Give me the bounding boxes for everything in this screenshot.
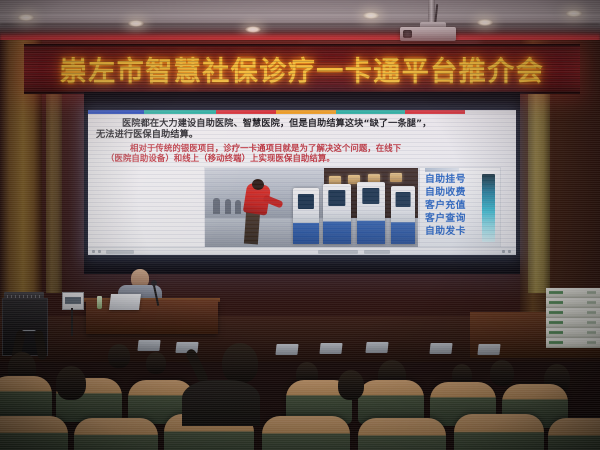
- taskbar-icon: [92, 250, 95, 253]
- audience-seat: [262, 416, 350, 450]
- ceiling-downlight: [363, 12, 379, 19]
- slide-top-bar-segment: [276, 110, 336, 114]
- photo-person-legs: [244, 211, 260, 245]
- audience-head: [490, 360, 514, 386]
- audience-seat: [0, 376, 52, 420]
- photo-kiosk-screen: [362, 188, 379, 204]
- photo-background-person: [213, 198, 220, 214]
- audience-head: [56, 366, 86, 400]
- slide-subtext-line2: （医院自助设备）和线上（移动终端）上实现医保自助结算。: [106, 153, 504, 163]
- wall-control-panel: [62, 292, 84, 310]
- audience-head: [108, 344, 130, 368]
- slide-top-bar-segment: [405, 110, 465, 114]
- audience-head: [222, 343, 258, 383]
- taskbar-item: [318, 250, 358, 254]
- photo-kiosk-screen: [328, 190, 345, 206]
- box-item: [546, 308, 600, 318]
- photo-background-person: [225, 199, 231, 214]
- podium-laptop: [109, 294, 141, 310]
- photo-background-person: [235, 200, 241, 214]
- slide-subtext-line1: 相对于传统的银医项目，诊疗一卡通项目就是为了解决这个问题，在线下: [106, 143, 504, 153]
- photo-kiosk: [391, 186, 415, 244]
- taskbar-icon: [98, 250, 101, 253]
- box-item: [546, 318, 600, 328]
- photo-kiosk: [323, 184, 351, 244]
- photo-kiosk-screen: [298, 194, 314, 209]
- led-banner: 崇左市智慧社保诊疗一卡通平台推介会: [24, 44, 580, 94]
- audience-head: [146, 352, 166, 374]
- slide-headline: 医院都在大力建设自助医院、智慧医院，但是自助结算这块“缺了一条腿”， 无法进行医…: [96, 119, 508, 140]
- wall-pillar-right: [528, 88, 550, 293]
- signboard-gradient-bar: [482, 174, 495, 242]
- audience-laptop: [429, 343, 452, 354]
- photo-kiosk: [357, 182, 385, 244]
- audience-laptop: [365, 342, 388, 353]
- ceiling-downlight: [477, 19, 493, 26]
- ceiling-beam: [0, 14, 600, 23]
- audience-raised-arm: [185, 348, 210, 385]
- audience-seat: [454, 414, 544, 450]
- signboard-item: 自助收费: [425, 186, 481, 199]
- signboard-item: 自助挂号: [425, 173, 481, 186]
- ceiling-downlight: [566, 10, 582, 17]
- slide-headline-line1: 医院都在大力建设自助医院、智慧医院，但是自助结算这块“缺了一条腿”，: [96, 119, 508, 130]
- taskbar-item: [364, 250, 390, 254]
- wall-panel-display: [65, 297, 81, 304]
- slide-subtext: 相对于传统的银医项目，诊疗一卡通项目就是为了解决这个问题，在线下 （医院自助设备…: [106, 143, 504, 163]
- slide-photo-kiosks: [204, 167, 419, 249]
- signboard-header-strip: [425, 167, 459, 172]
- audience-seat: [548, 418, 600, 450]
- box-item: [546, 288, 600, 298]
- audience-laptop: [319, 343, 342, 354]
- audience-laptop: [275, 344, 298, 355]
- water-bottle: [97, 296, 102, 309]
- audience-laptop: [137, 340, 160, 351]
- wall-pillar-left: [46, 88, 62, 293]
- taskbar-item: [106, 250, 134, 254]
- conference-hall-scene: 崇左市智慧社保诊疗一卡通平台推介会 医院都在大力建设自助医院、智慧医院，但是自助…: [0, 0, 600, 450]
- slide-headline-line2: 无法进行医保自助结算。: [96, 130, 508, 141]
- banner-title: 崇左市智慧社保诊疗一卡通平台推介会: [24, 50, 580, 89]
- slide-top-bar-segment: [216, 110, 276, 114]
- audience-seat: [0, 416, 68, 450]
- projector-lens-icon: [403, 30, 412, 38]
- slide-taskbar: [88, 247, 516, 255]
- photo-wall-monitor: [390, 173, 402, 182]
- photo-kiosk: [293, 188, 319, 244]
- box-item: [546, 298, 600, 308]
- slide-top-bar-segment: [88, 110, 144, 114]
- presentation-slide: 医院都在大力建设自助医院、智慧医院，但是自助结算这块“缺了一条腿”， 无法进行医…: [88, 110, 516, 255]
- taskbar-tray-icon: [508, 250, 511, 253]
- audience-area: [0, 330, 600, 450]
- ceiling-downlight: [128, 20, 144, 27]
- signboard-service-list: 自助挂号 自助收费 客户充值 客户查询 自助发卡: [425, 173, 481, 238]
- audience-laptop: [477, 344, 500, 355]
- audience-seat: [74, 418, 158, 450]
- microphone-icon: [151, 280, 157, 286]
- audience-shoulders: [182, 380, 260, 426]
- signboard-item: 客户查询: [425, 212, 481, 225]
- signboard-item: 客户充值: [425, 199, 481, 212]
- slide-top-bar-segment: [144, 110, 217, 114]
- audience-arm: [33, 330, 47, 361]
- ceiling-downlight: [18, 14, 34, 21]
- photo-kiosk-screen: [396, 192, 411, 207]
- slide-top-bar-segment: [336, 110, 404, 114]
- slide-top-color-bar: [88, 110, 516, 114]
- podium: [86, 300, 218, 334]
- slide-photo-signboard: 自助挂号 自助收费 客户充值 客户查询 自助发卡: [419, 167, 501, 249]
- taskbar-clock-icon: [502, 250, 505, 253]
- audience-head: [338, 370, 364, 400]
- slide-top-bar-segment: [465, 110, 516, 114]
- signboard-item: 自助发卡: [425, 225, 481, 238]
- audience-seat: [358, 418, 446, 450]
